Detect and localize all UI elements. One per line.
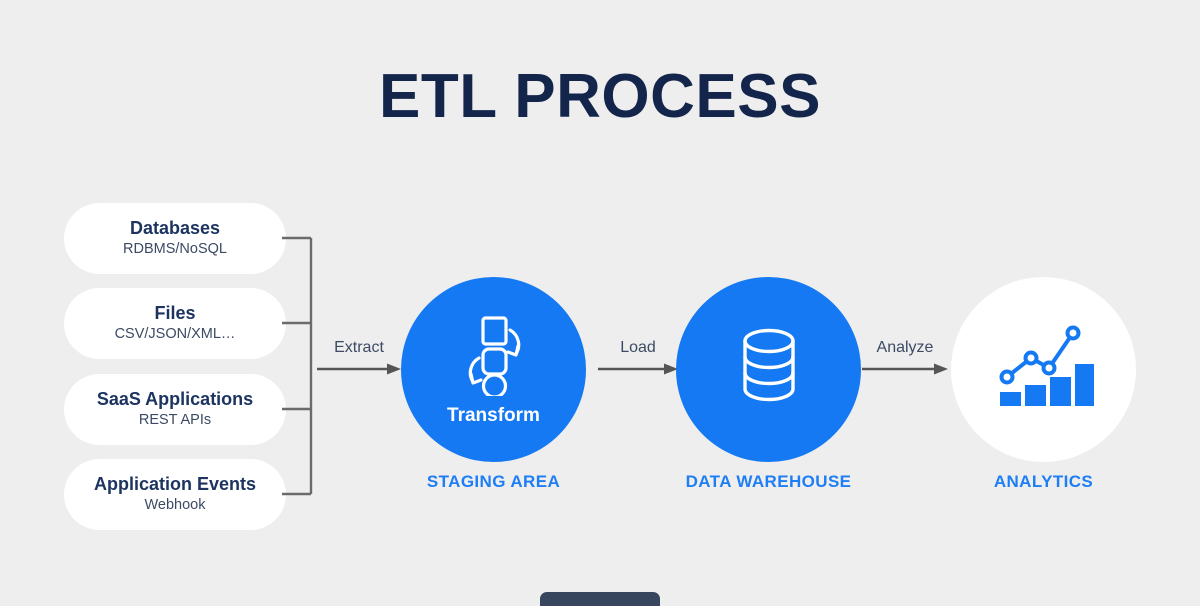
analytics-circle[interactable] bbox=[951, 277, 1136, 462]
source-box-databases[interactable]: Databases RDBMS/NoSQL bbox=[64, 203, 286, 274]
node-analytics[interactable]: ANALYTICS bbox=[951, 277, 1136, 462]
source-box-application-events[interactable]: Application Events Webhook bbox=[64, 459, 286, 530]
arrow-label: Load bbox=[598, 340, 678, 356]
staging-area-circle[interactable]: Transform bbox=[401, 277, 586, 462]
source-title: Files bbox=[154, 303, 195, 324]
bar-line-chart-icon bbox=[994, 320, 1094, 410]
arrow-analyze-icon bbox=[862, 362, 948, 376]
source-subtitle: RDBMS/NoSQL bbox=[123, 240, 227, 259]
source-subtitle: REST APIs bbox=[139, 411, 211, 430]
staging-area-caption: STAGING AREA bbox=[401, 473, 586, 490]
arrow-analyze: Analyze bbox=[862, 340, 948, 386]
node-staging-area[interactable]: Transform STAGING AREA bbox=[401, 277, 586, 462]
staging-area-inner-label: Transform bbox=[447, 406, 540, 425]
arrow-extract: Extract bbox=[317, 340, 401, 386]
source-title: Application Events bbox=[94, 474, 256, 495]
source-title: Databases bbox=[130, 218, 220, 239]
arrow-label: Extract bbox=[317, 340, 401, 356]
arrow-extract-icon bbox=[317, 362, 401, 376]
page-title: ETL PROCESS bbox=[0, 66, 1200, 128]
arrow-load-icon bbox=[598, 362, 678, 376]
source-title: SaaS Applications bbox=[97, 389, 253, 410]
analytics-caption: ANALYTICS bbox=[951, 473, 1136, 490]
source-box-files[interactable]: Files CSV/JSON/XML… bbox=[64, 288, 286, 359]
data-warehouse-circle[interactable] bbox=[676, 277, 861, 462]
etl-diagram-canvas: ETL PROCESS Databases RDBMS/NoSQL Files … bbox=[0, 0, 1200, 600]
database-cylinder-icon bbox=[733, 327, 805, 403]
arrow-load: Load bbox=[598, 340, 678, 386]
source-manifold-connector bbox=[282, 230, 316, 496]
transform-icon bbox=[458, 314, 530, 396]
source-subtitle: Webhook bbox=[145, 496, 206, 515]
node-data-warehouse[interactable]: DATA WAREHOUSE bbox=[676, 277, 861, 462]
bottom-accent-bar bbox=[540, 592, 660, 606]
source-subtitle: CSV/JSON/XML… bbox=[115, 325, 236, 344]
source-box-saas-applications[interactable]: SaaS Applications REST APIs bbox=[64, 374, 286, 445]
data-warehouse-caption: DATA WAREHOUSE bbox=[676, 473, 861, 490]
arrow-label: Analyze bbox=[862, 340, 948, 356]
